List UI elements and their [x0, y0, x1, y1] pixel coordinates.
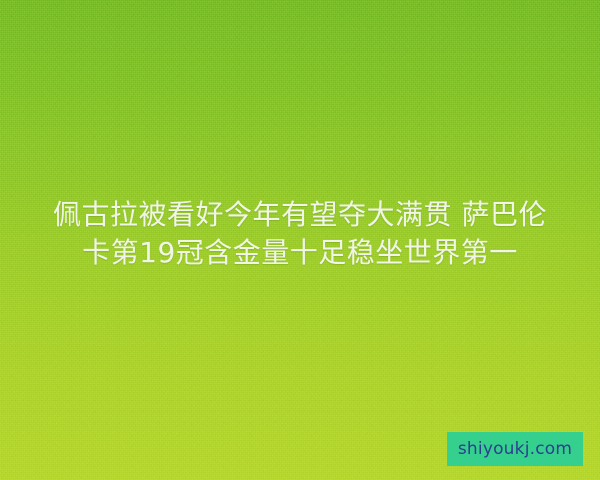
watermark-label: shiyoukj.com: [458, 441, 572, 458]
headline: 佩古拉被看好今年有望夺大满贯 萨巴伦 卡第19冠含金量十足稳坐世界第一: [0, 196, 600, 272]
watermark-badge: shiyoukj.com: [447, 432, 583, 466]
headline-line-1: 佩古拉被看好今年有望夺大满贯 萨巴伦: [18, 196, 582, 234]
headline-line-2: 卡第19冠含金量十足稳坐世界第一: [18, 234, 582, 272]
article-banner: 佩古拉被看好今年有望夺大满贯 萨巴伦 卡第19冠含金量十足稳坐世界第一 shiy…: [0, 0, 600, 480]
